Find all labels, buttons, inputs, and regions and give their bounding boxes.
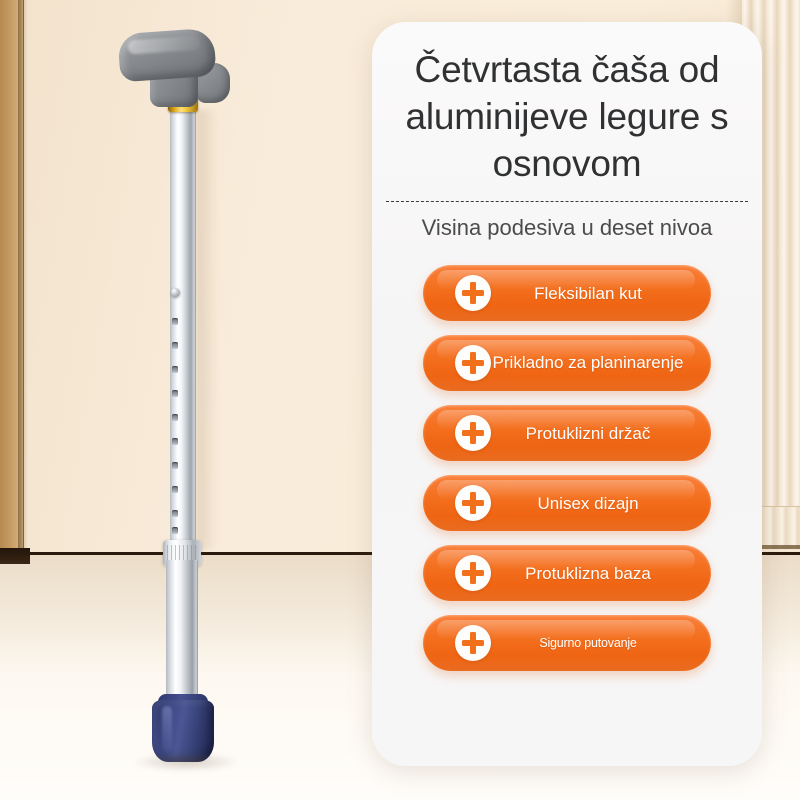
plus-circle-icon (455, 485, 491, 521)
feature-pill[interactable]: Unisex dizajn (423, 475, 711, 531)
product-subtitle: Visina podesiva u deset nivoa (412, 213, 722, 243)
product-info-card: Četvrtasta čaša od aluminijeve legure s … (372, 22, 762, 766)
feature-label: Protuklizna baza (491, 563, 711, 584)
feature-label: Fleksibilan kut (491, 283, 711, 304)
cane-foot-highlight (162, 706, 172, 752)
cane-wall-shadow (196, 110, 218, 550)
cane-lower-shaft (166, 560, 198, 712)
cane-push-pin-button (171, 288, 180, 297)
cane-height-adjustment-holes (172, 318, 180, 534)
feature-label: Prikladno za planinarenje (491, 353, 711, 373)
feature-pill[interactable]: Protuklizna baza (423, 545, 711, 601)
plus-circle-icon (455, 555, 491, 591)
plus-circle-icon (455, 415, 491, 451)
cane-handle-grip (117, 28, 216, 83)
cane-floor-shadow (132, 752, 240, 772)
feature-pill[interactable]: Fleksibilan kut (423, 265, 711, 321)
plus-circle-icon (455, 625, 491, 661)
feature-label: Sigurno putovanje (491, 633, 711, 654)
walking-cane-product (0, 0, 400, 800)
feature-pill[interactable]: Sigurno putovanje (423, 615, 711, 671)
product-title: Četvrtasta čaša od aluminijeve legure s … (388, 46, 746, 187)
plus-circle-icon (455, 345, 491, 381)
product-image-scene: Četvrtasta čaša od aluminijeve legure s … (0, 0, 800, 800)
feature-label: Unisex dizajn (491, 493, 711, 514)
title-divider (386, 201, 748, 202)
feature-list: Fleksibilan kut Prikladno za planinarenj… (372, 265, 762, 671)
feature-pill[interactable]: Prikladno za planinarenje (423, 335, 711, 391)
feature-pill[interactable]: Protuklizni držač (423, 405, 711, 461)
plus-circle-icon (455, 275, 491, 311)
feature-label: Protuklizni držač (491, 423, 711, 444)
